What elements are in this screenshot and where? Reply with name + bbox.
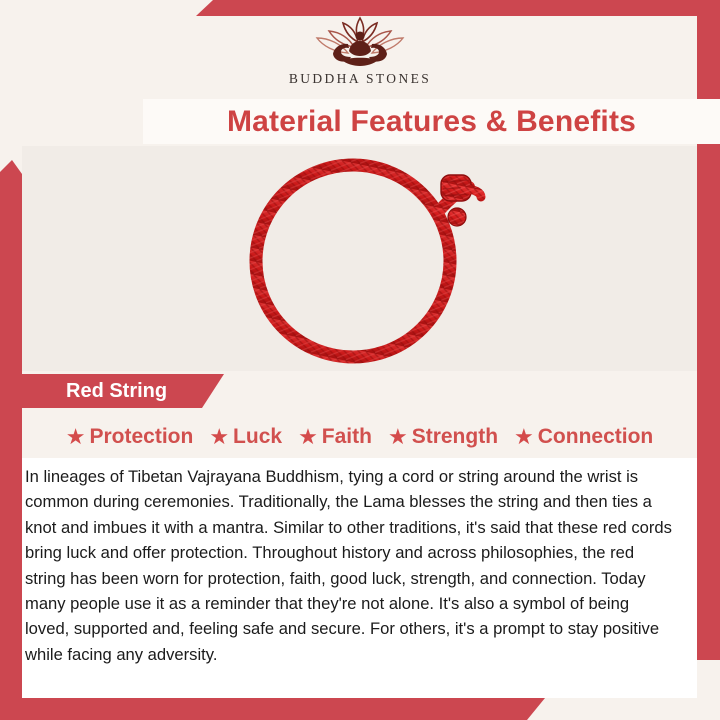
star-icon: ★ <box>298 426 318 448</box>
benefit-item-protection: ★ Protection <box>66 425 194 449</box>
benefit-label: Protection <box>89 425 193 449</box>
star-icon: ★ <box>209 426 229 448</box>
section-ribbon: Red String <box>0 374 224 408</box>
benefit-item-luck: ★ Luck <box>209 425 282 449</box>
benefit-item-connection: ★ Connection <box>514 425 653 449</box>
star-icon: ★ <box>66 426 86 448</box>
brand-logo: BUDDHA STONES <box>0 14 720 96</box>
benefit-label: Faith <box>322 425 372 449</box>
description-panel: In lineages of Tibetan Vajrayana Buddhis… <box>22 458 697 698</box>
infographic-page: BUDDHA STONES Material Features & Benefi… <box>0 0 720 720</box>
benefit-label: Strength <box>412 425 498 449</box>
decor-bottom-bar <box>0 698 545 720</box>
decor-left-bar <box>0 160 22 700</box>
description-body: In lineages of Tibetan Vajrayana Buddhis… <box>25 464 675 667</box>
benefit-item-faith: ★ Faith <box>298 425 372 449</box>
brand-wordmark: BUDDHA STONES <box>289 71 431 87</box>
benefit-label: Luck <box>233 425 282 449</box>
lotus-meditation-icon <box>308 14 412 70</box>
benefit-label: Connection <box>538 425 654 449</box>
ribbon-label: Red String <box>66 380 167 403</box>
product-image-stage <box>22 146 697 371</box>
benefit-item-strength: ★ Strength <box>388 425 498 449</box>
benefits-row: ★ Protection ★ Luck ★ Faith ★ Strength ★… <box>22 418 697 456</box>
star-icon: ★ <box>388 426 408 448</box>
star-icon: ★ <box>514 426 534 448</box>
title-band: Material Features & Benefits <box>143 99 720 144</box>
red-string-bracelet-image <box>225 149 495 369</box>
page-title: Material Features & Benefits <box>227 105 636 139</box>
